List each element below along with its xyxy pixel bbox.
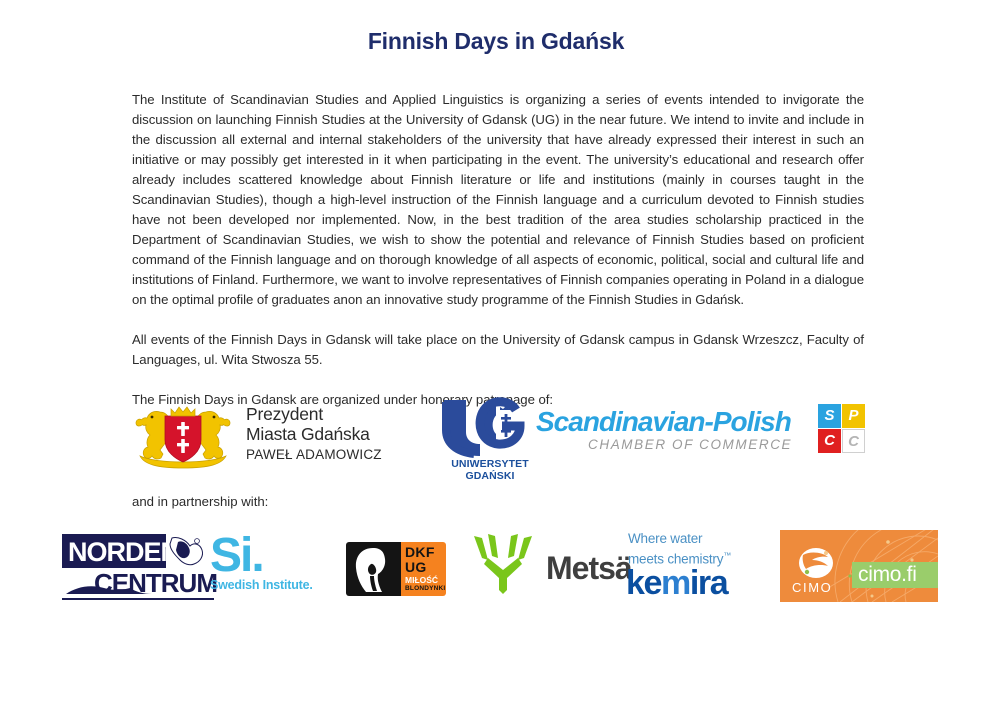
logo-swedish-institute: Si. Swedish Institute. (210, 532, 314, 604)
spcc-cell-p: P (842, 404, 865, 428)
kemira-name-part-1: ke (626, 564, 661, 602)
kemira-trademark-mark: ™ (723, 551, 731, 560)
paragraph-venue: All events of the Finnish Days in Gdansk… (132, 330, 864, 370)
page-title: Finnish Days in Gdańsk (0, 28, 992, 55)
svg-text:NORDEN: NORDEN (68, 537, 179, 567)
logo-dkf-ug: DKF UG MIŁOŚĆ BLONDYNKI (346, 542, 446, 596)
prezydent-text-block: Prezydent Miasta Gdańska PAWEŁ ADAMOWICZ (246, 404, 406, 464)
dkf-portrait-icon (346, 542, 401, 596)
patronage-logo-row: Prezydent Miasta Gdańska PAWEŁ ADAMOWICZ (130, 396, 870, 482)
dkf-line-1: DKF (405, 545, 435, 560)
si-name: Swedish Institute. (210, 578, 314, 592)
document-body: The Institute of Scandinavian Studies an… (132, 90, 864, 410)
prezydent-line-3: PAWEŁ ADAMOWICZ (246, 446, 406, 464)
kemira-wordmark: kemira (626, 566, 727, 600)
spcc-letter-grid: S P C C (818, 404, 866, 454)
kemira-tagline-line-1: Where water (628, 531, 702, 546)
logo-cimo: CIMO cimo.fi (780, 530, 938, 602)
logo-scandinavian-polish-chamber: Scandinavian-Polish CHAMBER OF COMMERCE … (536, 406, 866, 464)
logo-uniwersytet-gdanski: UNIWERSYTET GDAŃSKI (426, 396, 554, 478)
paragraph-spacer (132, 310, 864, 330)
spcc-wordmark: Scandinavian-Polish (536, 406, 791, 438)
document-page: Finnish Days in Gdańsk The Institute of … (0, 0, 992, 702)
ug-caption: UNIWERSYTET GDAŃSKI (426, 458, 554, 482)
spcc-cell-s: S (818, 404, 841, 428)
prezydent-line-2: Miasta Gdańska (246, 424, 406, 444)
metsa-tree-icon (464, 532, 542, 596)
dkf-line-4: BLONDYNKI (405, 585, 445, 593)
logo-norden-centrum: NORDEN CENTRUM (60, 532, 218, 602)
cimo-wordmark: CIMO (792, 580, 832, 595)
ug-monogram-icon (440, 396, 540, 463)
logo-kemira: Where water meets chemistry™ kemira (626, 530, 770, 602)
dkf-line-2: UG (405, 560, 427, 575)
prezydent-line-1: Prezydent (246, 404, 406, 424)
paragraph-spacer (132, 370, 864, 390)
spcc-cell-c1: C (818, 429, 841, 453)
kemira-tagline: Where water meets chemistry™ (628, 530, 731, 568)
partnership-label: and in partnership with: (132, 494, 268, 509)
spcc-subtitle: CHAMBER OF COMMERCE (588, 437, 792, 452)
partner-logo-row: NORDEN CENTRUM Si. Swedish Institute. (44, 528, 954, 614)
kemira-name-part-3: ira (690, 564, 727, 602)
paragraph-intro: The Institute of Scandinavian Studies an… (132, 90, 864, 310)
kemira-name-part-2: m (661, 564, 690, 602)
gdansk-coat-of-arms-icon (130, 398, 236, 472)
dkf-line-3: MIŁOŚĆ (405, 575, 438, 585)
metsa-wordmark: Metsä (546, 550, 632, 587)
logo-prezydent-miasta-gdanska: Prezydent Miasta Gdańska PAWEŁ ADAMOWICZ (130, 398, 400, 476)
cimo-globe-icon (794, 542, 838, 584)
cimo-domain: cimo.fi (858, 562, 917, 588)
spcc-cell-c2: C (842, 429, 865, 453)
si-wordmark: Si. (210, 532, 314, 580)
dkf-text-panel: DKF UG MIŁOŚĆ BLONDYNKI (401, 542, 446, 596)
